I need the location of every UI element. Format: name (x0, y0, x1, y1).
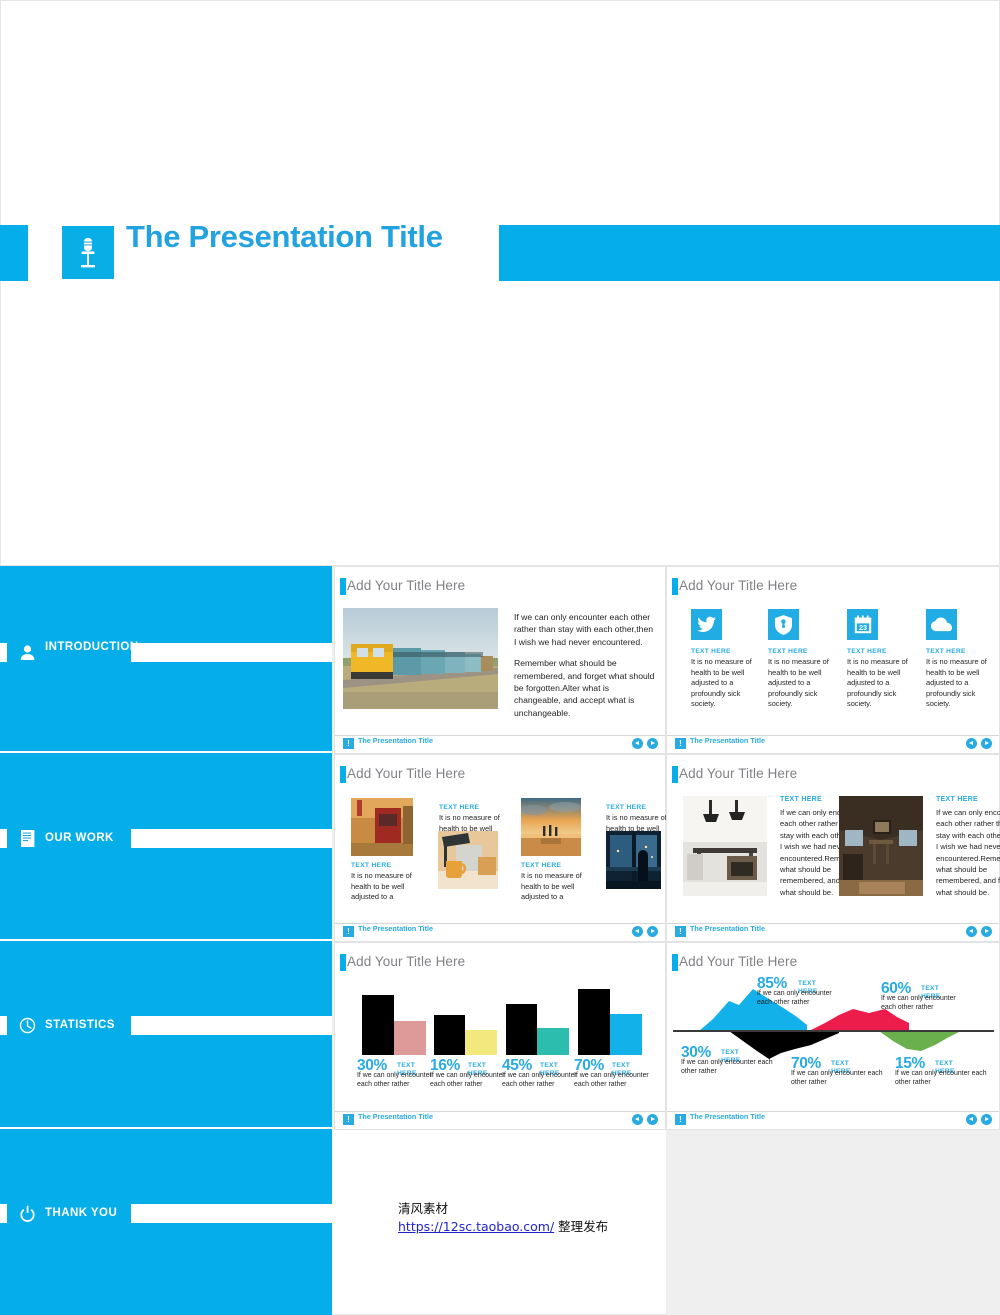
next-slide-button[interactable] (981, 738, 992, 749)
twitter-icon (691, 609, 722, 640)
power-icon (19, 1204, 36, 1223)
footer-mark-icon: ! (675, 926, 686, 937)
slide-title: Add Your Title Here (679, 578, 797, 593)
cell-heading: TEXT HERE (351, 862, 391, 869)
next-slide-button[interactable] (647, 1114, 658, 1125)
watermark-link[interactable]: https://12sc.taobao.com/ (398, 1219, 554, 1234)
slide-thumbnail-3[interactable]: Add Your Title Here TEXT HERE It is no m… (334, 754, 666, 942)
slide-title: Add Your Title Here (347, 766, 465, 781)
prev-slide-button[interactable] (966, 738, 977, 749)
title-tick (672, 954, 678, 971)
slide-title: Add Your Title Here (347, 954, 465, 969)
cell-body: If we can only encounter each other rath… (936, 807, 1000, 898)
feature-column: TEXT HERE It is no measure of health to … (691, 609, 761, 710)
footer-navs (966, 1114, 992, 1125)
footer-navs (632, 926, 658, 937)
slide-thumbnail-1[interactable]: Add Your Title Here (334, 566, 666, 754)
bar-base (506, 1004, 537, 1055)
title-accent-bar-left (0, 225, 28, 281)
prev-slide-button[interactable] (632, 1114, 643, 1125)
prev-slide-button[interactable] (966, 1114, 977, 1125)
feature-body: It is no measure of health to be well ad… (691, 657, 753, 710)
document-icon (19, 829, 36, 848)
slide-title: Add Your Title Here (679, 766, 797, 781)
microphone-icon (62, 226, 114, 279)
sidebar-item-our-work[interactable]: OUR WORK (0, 753, 332, 941)
footer-navs (632, 738, 658, 749)
footer-title: The Presentation Title (690, 924, 840, 934)
title-tick (340, 766, 346, 783)
feature-heading: TEXT HERE (768, 648, 838, 655)
feature-heading: TEXT HERE (847, 648, 917, 655)
sidebar-bar (131, 1204, 332, 1223)
footer-mark-icon: ! (343, 1114, 354, 1125)
calendar-icon: 23 (847, 609, 878, 640)
page-title: The Presentation Title (126, 218, 486, 256)
slide-thumbnail-2[interactable]: Add Your Title Here TEXT HERE It is no m… (666, 566, 1000, 754)
slide-thumbnail-5[interactable]: Add Your Title Here 30% TEXT HERE If we … (334, 942, 666, 1130)
prev-slide-button[interactable] (632, 926, 643, 937)
cloud-icon (926, 609, 957, 640)
bar-base (578, 989, 610, 1055)
cell-heading: TEXT HERE (439, 804, 479, 811)
area-series-green (879, 1031, 961, 1051)
bar-base (434, 1015, 465, 1055)
title-accent-bar-right (499, 225, 1000, 281)
bar-value (610, 1014, 642, 1055)
watermark-line2: https://12sc.taobao.com/ 整理发布 (398, 1218, 608, 1236)
cell-heading: TEXT HERE (606, 804, 646, 811)
night-window-photo (606, 831, 661, 889)
title-tick (340, 578, 346, 595)
sidebar-bar (131, 829, 332, 848)
bar-base (362, 995, 394, 1055)
stat-body: If we can only encounter each other rath… (574, 1071, 658, 1090)
prev-slide-button[interactable] (966, 926, 977, 937)
slide-footer: ! The Presentation Title (667, 1111, 999, 1129)
title-tick (672, 578, 678, 595)
sidebar-item-thank-you[interactable]: THANK YOU (0, 1129, 332, 1315)
sidebar-notch (0, 1016, 7, 1035)
attic-interior-photo (839, 796, 923, 896)
train-photo (343, 608, 498, 709)
feature-column: TEXT HERE It is no measure of health to … (926, 609, 996, 710)
footer-title: The Presentation Title (690, 1112, 840, 1122)
footer-mark-icon: ! (675, 1114, 686, 1125)
sidebar-item-label: OUR WORK (45, 829, 125, 848)
slide-footer: ! The Presentation Title (667, 735, 999, 753)
watermark-line1: 清风素材 (398, 1200, 608, 1218)
stat-body: If we can only encounter each other rath… (757, 989, 845, 1008)
lamp-mug-photo (438, 831, 498, 889)
sidebar-item-label: INTRODUCTION (45, 641, 125, 654)
sidebar-bar (131, 643, 332, 662)
feature-column: 23 TEXT HERE It is no measure of health … (847, 609, 917, 710)
slide-title: Add Your Title Here (679, 954, 797, 969)
cell-body: It is no measure of health to be well ad… (521, 871, 589, 903)
footer-mark-icon: ! (343, 738, 354, 749)
feature-heading: TEXT HERE (691, 648, 761, 655)
bus-photo (351, 798, 413, 856)
feature-body: It is no measure of health to be well ad… (768, 657, 830, 710)
sidebar-item-statistics[interactable]: STATISTICS (0, 941, 332, 1129)
sunset-beach-photo (521, 798, 581, 856)
slide-footer: ! The Presentation Title (335, 923, 665, 941)
clock-icon (19, 1016, 36, 1035)
bar-value (394, 1021, 426, 1055)
stat-body: If we can only encounter each other rath… (357, 1071, 441, 1090)
footer-title: The Presentation Title (358, 924, 508, 934)
slide-title: Add Your Title Here (347, 578, 465, 593)
watermark: 清风素材 https://12sc.taobao.com/ 整理发布 (398, 1200, 608, 1236)
slide-footer: ! The Presentation Title (335, 1111, 665, 1129)
bar-value (537, 1028, 569, 1055)
paragraph: If we can only encounter each other rath… (514, 611, 656, 648)
slide-thumbnail-6[interactable]: Add Your Title Here 85% TEXT HERE If we … (666, 942, 1000, 1130)
title-slide[interactable]: The Presentation Title (0, 225, 1000, 281)
footer-mark-icon: ! (675, 738, 686, 749)
shield-icon (768, 609, 799, 640)
title-tick (672, 766, 678, 783)
sidebar: INTRODUCTION OUR WORK (0, 566, 332, 1315)
sidebar-notch (0, 829, 7, 848)
presentation-preview-page: The Presentation Title INTRODUCTION (0, 0, 1000, 1315)
paragraph: Remember what should be remembered, and … (514, 657, 656, 719)
sidebar-notch (0, 1204, 7, 1223)
cell-heading: TEXT HERE (936, 796, 978, 803)
sidebar-notch (0, 643, 7, 662)
calendar-day: 23 (858, 622, 866, 631)
feature-body: It is no measure of health to be well ad… (847, 657, 909, 710)
slide-thumbnail-4[interactable]: Add Your Title Here TEXT HERE If we can … (666, 754, 1000, 942)
footer-navs (966, 926, 992, 937)
next-slide-button[interactable] (647, 926, 658, 937)
title-slide-canvas (0, 0, 1000, 566)
bar-value (465, 1030, 497, 1055)
footer-mark-icon: ! (343, 926, 354, 937)
slide-footer: ! The Presentation Title (335, 735, 665, 753)
watermark-suffix: 整理发布 (554, 1219, 608, 1234)
feature-heading: TEXT HERE (926, 648, 996, 655)
dining-room-photo (683, 796, 767, 896)
title-tick (340, 954, 346, 971)
next-slide-button[interactable] (981, 926, 992, 937)
next-slide-button[interactable] (647, 738, 658, 749)
sidebar-item-introduction[interactable]: INTRODUCTION (0, 566, 332, 753)
footer-title: The Presentation Title (358, 1112, 508, 1122)
feature-column: TEXT HERE It is no measure of health to … (768, 609, 838, 710)
footer-navs (966, 738, 992, 749)
footer-navs (632, 1114, 658, 1125)
stat-body: If we can only encounter each other rath… (881, 994, 969, 1013)
sidebar-bar (131, 1016, 332, 1035)
person-icon (19, 643, 36, 662)
footer-title: The Presentation Title (690, 736, 840, 746)
footer-title: The Presentation Title (358, 736, 508, 746)
cell-heading: TEXT HERE (780, 796, 822, 803)
cell-body: It is no measure of health to be well ad… (351, 871, 419, 903)
sidebar-item-label: THANK YOU (45, 1204, 135, 1223)
next-slide-button[interactable] (981, 1114, 992, 1125)
stat-body: If we can only encounter each other rath… (791, 1069, 883, 1088)
feature-body: It is no measure of health to be well ad… (926, 657, 988, 710)
cell-heading: TEXT HERE (521, 862, 561, 869)
slide-body: If we can only encounter each other rath… (514, 611, 656, 728)
slide-footer: ! The Presentation Title (667, 923, 999, 941)
sidebar-item-label: STATISTICS (45, 1016, 125, 1035)
prev-slide-button[interactable] (632, 738, 643, 749)
stat-body: If we can only encounter each other rath… (681, 1058, 773, 1077)
stat-body: If we can only encounter each other rath… (895, 1069, 987, 1088)
